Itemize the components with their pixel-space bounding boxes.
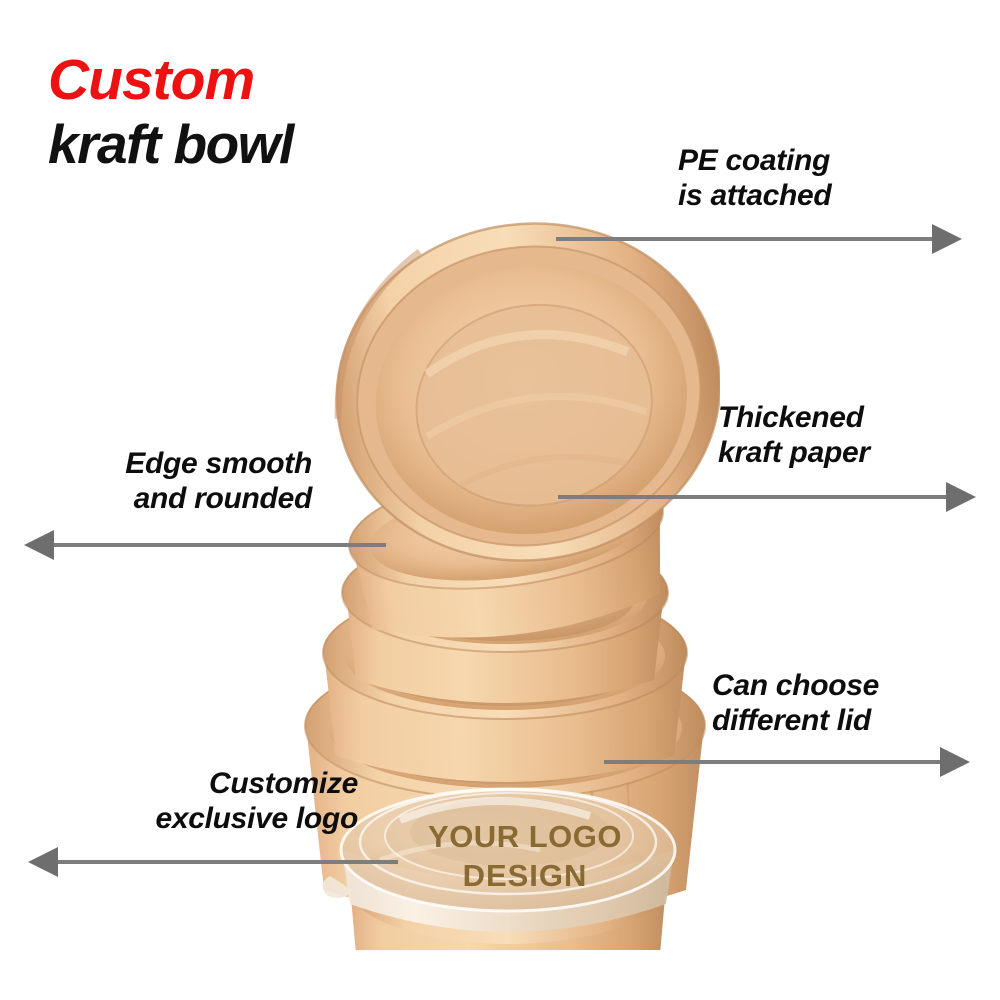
callout-pe-coating-line-1: PE coating — [678, 143, 978, 178]
callout-pe-coating-line-2: is attached — [678, 178, 978, 213]
callout-customize-logo-line-2: exclusive logo — [50, 801, 358, 836]
callout-customize-logo: Customize exclusive logo — [50, 766, 358, 836]
callout-customize-logo-line-1: Customize — [50, 766, 358, 801]
headline-block: Custom kraft bowl — [48, 52, 568, 174]
arrowhead-customize-logo — [28, 847, 58, 877]
leader-line-customize-logo — [58, 860, 398, 864]
leader-line-pe-coating — [556, 237, 936, 241]
headline-line-1: Custom — [48, 52, 568, 109]
leader-line-thickened-kraft-paper — [558, 495, 950, 499]
callout-thickened-kraft-paper-line-2: kraft paper — [718, 435, 998, 470]
callout-different-lid: Can choose different lid — [712, 668, 1000, 738]
arrowhead-different-lid — [940, 747, 970, 777]
callout-edge-smooth-line-1: Edge smooth — [30, 446, 312, 481]
callout-thickened-kraft-paper-line-1: Thickened — [718, 400, 998, 435]
callout-different-lid-line-2: different lid — [712, 703, 1000, 738]
product-infographic: Custom kraft bowl — [0, 0, 1000, 1000]
callout-pe-coating: PE coating is attached — [678, 143, 978, 213]
leader-line-edge-smooth — [54, 543, 386, 547]
callout-edge-smooth-line-2: and rounded — [30, 481, 312, 516]
callout-edge-smooth: Edge smooth and rounded — [30, 446, 312, 516]
arrowhead-pe-coating — [932, 224, 962, 254]
leader-line-different-lid — [604, 760, 944, 764]
callout-thickened-kraft-paper: Thickened kraft paper — [718, 400, 998, 470]
callout-different-lid-line-1: Can choose — [712, 668, 1000, 703]
arrowhead-thickened-kraft-paper — [946, 482, 976, 512]
arrowhead-edge-smooth — [24, 530, 54, 560]
